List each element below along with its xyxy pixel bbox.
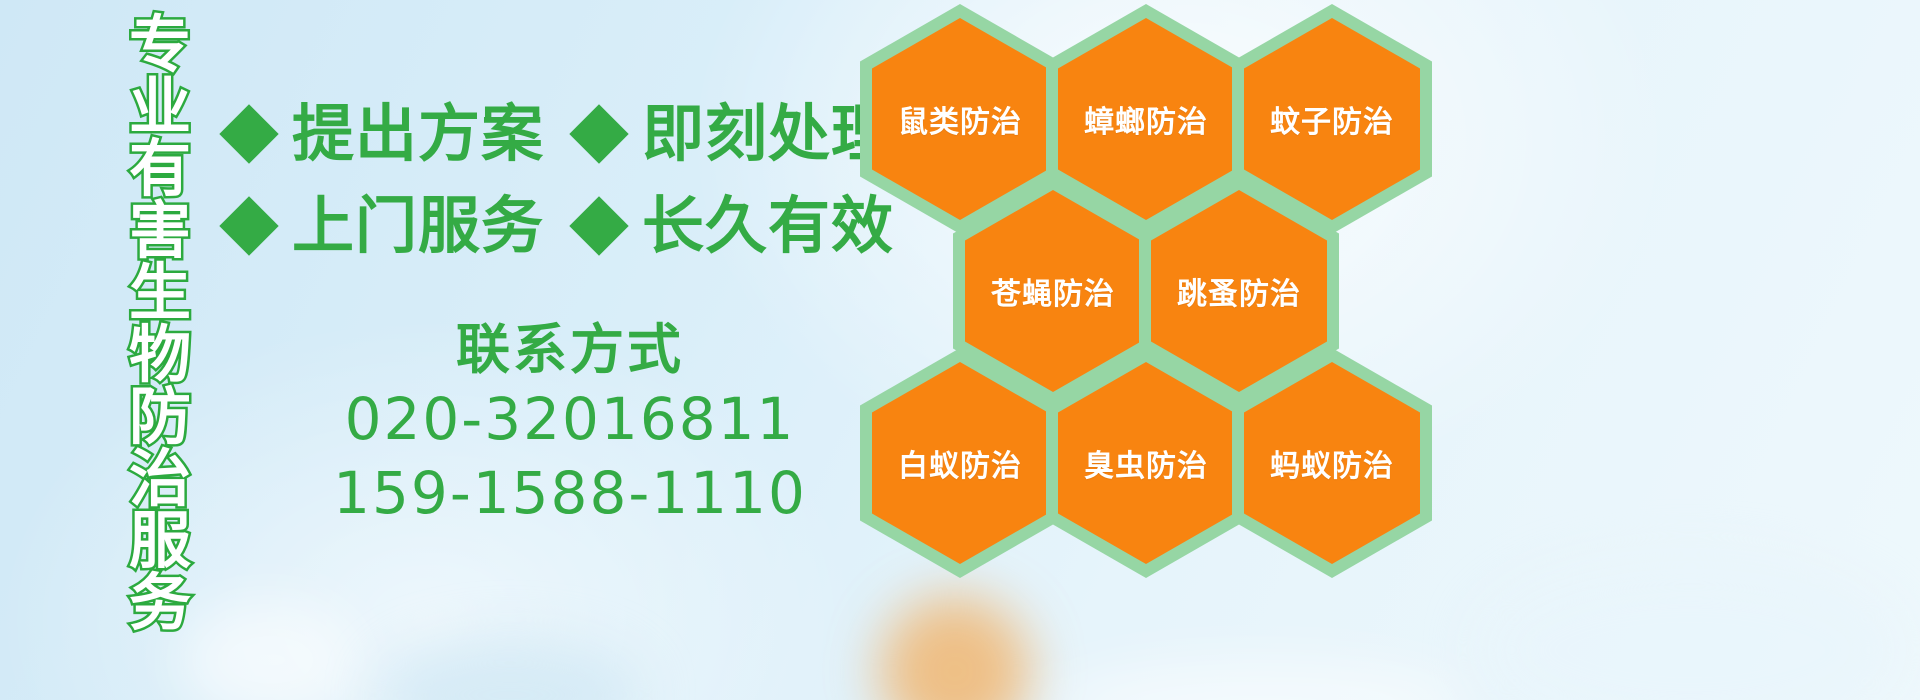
feature-label: 提出方案 [292,103,544,165]
vertical-headline-char: 治 [129,448,191,510]
service-hexagon-label: 蟑螂防治 [1084,97,1208,141]
background-blur-blob [1480,560,1900,700]
diamond-icon [219,104,278,163]
background-blur-blob [1050,660,1470,700]
vertical-headline-char: 有 [129,138,191,200]
feature-label: 即刻处理 [642,103,894,165]
feature-row: 上门服务 长久有效 [228,180,894,272]
diamond-icon [219,196,278,255]
background-blur-blob [380,640,640,700]
service-hexagon-label: 臭虫防治 [1084,441,1208,485]
vertical-headline-char: 防 [129,386,191,448]
feature-row: 提出方案 即刻处理 [228,88,894,180]
service-hexagon-label: 蚂蚁防治 [1270,441,1394,485]
diamond-icon [569,196,628,255]
feature-bullet-list: 提出方案 即刻处理 上门服务 长久有效 [228,88,894,272]
service-hexagon-label: 苍蝇防治 [991,269,1115,313]
contact-block: 联系方式 020-32016811 159-1588-1110 [260,318,880,530]
service-hexagon-label: 鼠类防治 [898,97,1022,141]
service-hexagon-label: 白蚁防治 [898,441,1022,485]
background-blur-blob [880,596,1030,700]
feature-label: 上门服务 [292,195,544,257]
feature-item: 即刻处理 [578,103,894,165]
vertical-headline-char: 害 [129,200,191,262]
vertical-headline: 专业有害生物防治服务 [112,14,208,634]
vertical-headline-char: 业 [129,76,191,138]
service-hexagon-label: 蚊子防治 [1270,97,1394,141]
service-hexagon-label: 跳蚤防治 [1177,269,1301,313]
feature-item: 长久有效 [578,195,894,257]
phone-mobile[interactable]: 159-1588-1110 [260,456,880,530]
feature-label: 长久有效 [642,195,894,257]
feature-item: 上门服务 [228,195,544,257]
contact-label: 联系方式 [260,318,880,382]
vertical-headline-char: 务 [129,572,191,634]
vertical-headline-char: 物 [129,324,191,386]
diamond-icon [569,104,628,163]
promo-banner: 专业有害生物防治服务 提出方案 即刻处理 上门服务 长久有效 [0,0,1920,700]
service-honeycomb: 鼠类防治 蟑螂防治 蚊子防治 苍蝇防治 跳蚤防治 白蚁防治 臭虫防治 蚂蚁防治 [860,0,1460,554]
vertical-headline-char: 服 [129,510,191,572]
vertical-headline-char: 生 [129,262,191,324]
feature-item: 提出方案 [228,103,544,165]
vertical-headline-char: 专 [129,14,191,76]
phone-landline[interactable]: 020-32016811 [260,382,880,456]
